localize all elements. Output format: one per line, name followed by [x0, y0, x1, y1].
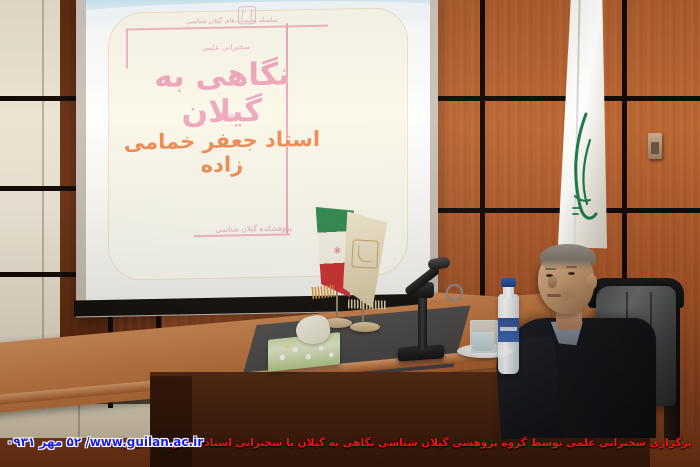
speaker-eyebrow — [566, 266, 577, 268]
flag-fringe — [311, 285, 334, 299]
water-glass-contents — [472, 332, 494, 351]
microphone-stem — [418, 292, 427, 350]
slide-speaker-name: استاد جعفر خمامی زاده — [112, 127, 332, 179]
speaker-eye — [568, 272, 575, 275]
wall-mullion-vertical — [622, 0, 627, 290]
water-bottle-cap — [501, 278, 516, 287]
desk-front-left-panel — [150, 376, 192, 467]
wall-outlet — [648, 133, 662, 159]
microphone-ring — [446, 284, 463, 301]
slide-title: نگاهی به گیلان — [114, 57, 330, 132]
wall-mullion-vertical — [480, 0, 485, 300]
speaker-eyebrow — [545, 268, 556, 270]
iran-flag-emblem-icon: ⚛ — [332, 246, 344, 258]
photo-canvas: سلسله نشست های گیلان شناسی سخنرانی علمی … — [0, 0, 700, 467]
caption-source-and-date: www.guilan.ac.ir/ ۲۵ مهر ۱۳۹۰ — [6, 435, 203, 449]
water-bottle-label — [498, 318, 519, 342]
institution-flag-emblem-icon — [351, 239, 378, 268]
speaker-ear — [586, 274, 597, 290]
flag-fringe — [348, 299, 386, 309]
speaker-mouth — [547, 294, 561, 297]
caption-url: www.guilan.ac.ir — [90, 435, 203, 449]
caption-date: ۲۵ مهر ۱۳۹۰ — [6, 435, 81, 449]
banner-logo-icon — [566, 110, 606, 230]
flag-base — [350, 322, 380, 332]
